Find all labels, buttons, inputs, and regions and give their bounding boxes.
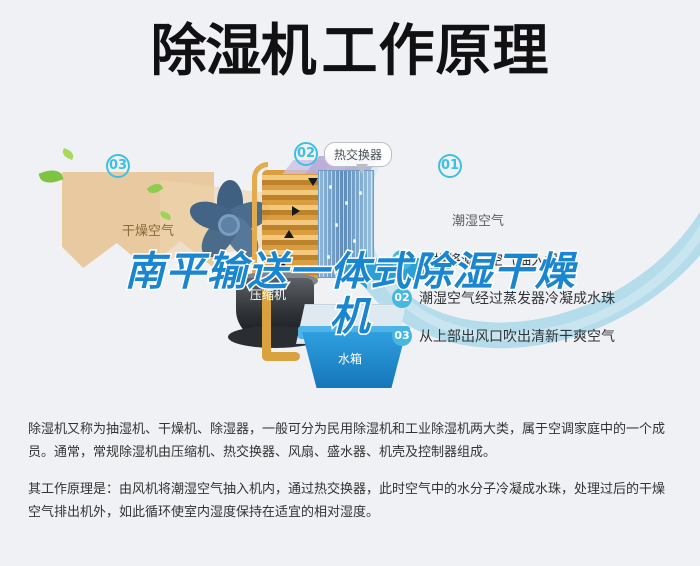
label-humid-air: 潮湿空气: [452, 210, 504, 229]
paragraph-one: 除湿机又称为抽湿机、干燥机、除湿器，一般可分为民用除湿机和工业除湿机两大类，属于…: [28, 418, 676, 464]
flow-arrow-icon: [308, 178, 318, 186]
step-text: 潮湿空气经过蒸发器冷凝成水珠: [419, 288, 615, 308]
step-text: 风机将潮湿空气抽入机内: [419, 250, 573, 270]
infographic-page: 除湿机工作原理: [0, 0, 700, 566]
list-item: 02 潮湿空气经过蒸发器冷凝成水珠: [392, 288, 692, 308]
page-title: 除湿机工作原理: [0, 24, 700, 80]
water-droplet-icon: [359, 191, 362, 195]
flow-arrow-icon: [276, 258, 286, 266]
water-droplet-icon: [335, 223, 338, 227]
flow-arrow-icon: [292, 206, 300, 216]
description-text: 除湿机又称为抽湿机、干燥机、除湿器，一般可分为民用除湿机和工业除湿机两大类，属于…: [28, 418, 676, 538]
flow-arrow-icon: [284, 230, 294, 238]
water-droplet-icon: [329, 185, 332, 189]
step-list: 01 风机将潮湿空气抽入机内 02 潮湿空气经过蒸发器冷凝成水珠 03 从上部出…: [392, 250, 692, 364]
diagram-badge-02: 02: [294, 142, 318, 166]
water-droplet-icon: [327, 255, 330, 259]
water-droplet-icon: [353, 239, 356, 243]
label-compressor: 压缩机: [250, 286, 286, 303]
drain-pipe-icon: [262, 352, 300, 361]
list-item: 01 风机将潮湿空气抽入机内: [392, 250, 692, 270]
fan-hub: [218, 214, 240, 236]
list-item: 03 从上部出风口吹出清新干爽空气: [392, 326, 692, 346]
leaf-icon: [39, 167, 64, 186]
diagram-badge-01: 01: [438, 154, 462, 178]
step-badge: 03: [392, 326, 412, 346]
step-badge: 02: [392, 288, 412, 308]
label-dry-air: 干燥空气: [122, 220, 174, 239]
step-text: 从上部出风口吹出清新干爽空气: [419, 326, 615, 346]
paragraph-two: 其工作原理是：由风机将潮湿空气抽入机内，通过热交换器，此时空气中的水分子冷凝成水…: [28, 478, 676, 524]
water-droplet-icon: [345, 201, 348, 205]
title-part-two: 工作原理: [322, 24, 550, 80]
step-badge: 01: [392, 250, 412, 270]
label-water-tank: 水箱: [338, 350, 362, 367]
callout-pointer-icon: [356, 164, 368, 174]
leaf-icon: [61, 148, 75, 160]
diagram-badge-03: 03: [106, 154, 130, 178]
title-part-one: 除湿机: [151, 24, 316, 80]
condenser-coil-icon: [262, 170, 320, 280]
